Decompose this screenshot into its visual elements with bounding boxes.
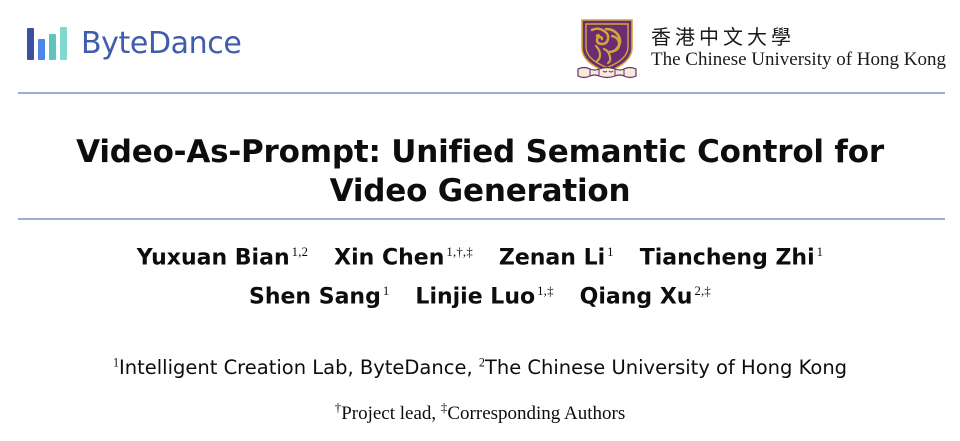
affiliation-entry: 1Intelligent Creation Lab, ByteDance, xyxy=(113,356,473,379)
author-list: Yuxuan Bian1,2Xin Chen1,†,‡Zenan Li1Tian… xyxy=(0,246,960,309)
author-entry: Zenan Li1 xyxy=(499,246,614,269)
logo-header: ByteDance 香港中文大學 xyxy=(0,0,960,90)
page-title-line-2: Video Generation xyxy=(330,173,631,209)
bytedance-logo: ByteDance xyxy=(26,27,241,61)
author-footnote: †Project lead, ‡Corresponding Authors xyxy=(0,400,960,426)
cuhk-name-block: 香港中文大學 The Chinese University of Hong Ko… xyxy=(651,26,946,71)
author-name: Qiang Xu xyxy=(580,285,693,310)
cuhk-name-english: The Chinese University of Hong Kong xyxy=(651,50,946,71)
affiliation-entry: 2The Chinese University of Hong Kong xyxy=(479,356,847,379)
author-affiliation-marks: 1 xyxy=(607,245,614,259)
affiliation-text: The Chinese University of Hong Kong xyxy=(485,356,847,379)
bytedance-wordmark: ByteDance xyxy=(81,29,241,59)
author-row: Shen Sang1Linjie Luo1,‡Qiang Xu2,‡ xyxy=(0,285,960,308)
author-affiliation-marks: 1,†,‡ xyxy=(446,245,473,259)
author-entry: Xin Chen1,†,‡ xyxy=(334,246,473,269)
author-entry: Tiancheng Zhi1 xyxy=(640,246,823,269)
cuhk-crest-icon xyxy=(576,16,638,80)
author-entry: Yuxuan Bian1,2 xyxy=(137,246,308,269)
author-affiliation-marks: 1,‡ xyxy=(537,284,554,298)
author-name: Yuxuan Bian xyxy=(137,245,290,270)
footnote-entry: †Project lead, xyxy=(335,403,436,424)
author-name: Tiancheng Zhi xyxy=(640,245,815,270)
divider-top xyxy=(18,92,945,94)
author-affiliation-marks: 1 xyxy=(383,284,390,298)
author-name: Zenan Li xyxy=(499,245,605,270)
affiliation-list: 1Intelligent Creation Lab, ByteDance, 2T… xyxy=(0,355,960,379)
page-title-line-1: Video-As-Prompt: Unified Semantic Contro… xyxy=(76,134,884,170)
author-entry: Linjie Luo1,‡ xyxy=(415,285,553,308)
title-slide: ByteDance 香港中文大學 xyxy=(0,0,960,441)
bytedance-bars-icon xyxy=(26,27,70,61)
cuhk-name-chinese: 香港中文大學 xyxy=(651,26,946,49)
author-affiliation-marks: 1 xyxy=(817,245,824,259)
author-name: Linjie Luo xyxy=(415,285,535,310)
affiliation-text: Intelligent Creation Lab, ByteDance, xyxy=(119,356,473,379)
footnote-text: Project lead, xyxy=(341,403,436,424)
cuhk-logo: 香港中文大學 The Chinese University of Hong Ko… xyxy=(576,16,946,80)
page-title: Video-As-Prompt: Unified Semantic Contro… xyxy=(60,133,900,212)
author-name: Xin Chen xyxy=(334,245,444,270)
author-row: Yuxuan Bian1,2Xin Chen1,†,‡Zenan Li1Tian… xyxy=(0,246,960,269)
author-entry: Shen Sang1 xyxy=(249,285,389,308)
author-name: Shen Sang xyxy=(249,285,381,310)
author-affiliation-marks: 1,2 xyxy=(292,245,309,259)
divider-middle xyxy=(18,218,945,220)
author-entry: Qiang Xu2,‡ xyxy=(580,285,711,308)
footnote-text: Corresponding Authors xyxy=(447,403,625,424)
author-affiliation-marks: 2,‡ xyxy=(694,284,711,298)
footnote-entry: ‡Corresponding Authors xyxy=(441,403,625,424)
